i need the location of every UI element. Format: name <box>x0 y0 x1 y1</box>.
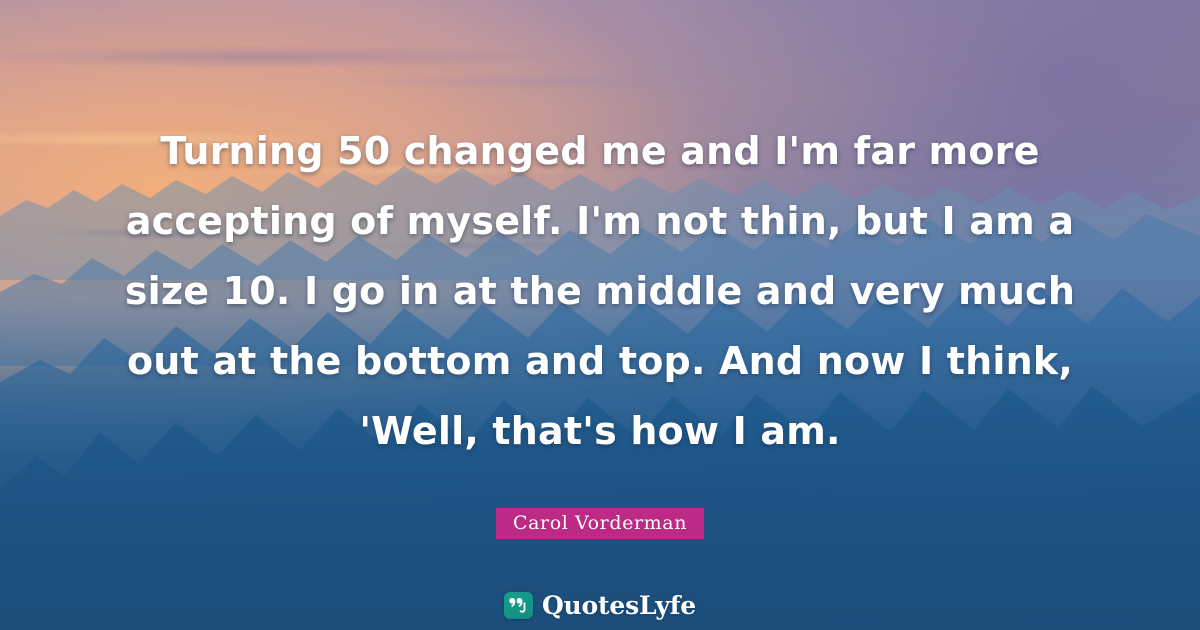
brand-logo[interactable]: QuotesLyfe <box>504 591 696 620</box>
quote-line: 'Well, that's how I am. <box>70 396 1130 466</box>
quote-text: Turning 50 changed me and I'm far more a… <box>70 116 1130 466</box>
quote-line: size 10. I go in at the middle and very … <box>70 256 1130 326</box>
brand-name: QuotesLyfe <box>542 591 696 620</box>
quote-line: Turning 50 changed me and I'm far more <box>70 116 1130 186</box>
card-content: Turning 50 changed me and I'm far more a… <box>0 0 1200 630</box>
quotation-mark-icon <box>504 592 533 619</box>
quote-line: out at the bottom and top. And now I thi… <box>70 326 1130 396</box>
attribution-wrap: Carol Vorderman <box>496 508 704 539</box>
quote-line: accepting of myself. I'm not thin, but I… <box>70 186 1130 256</box>
author-badge[interactable]: Carol Vorderman <box>496 508 704 539</box>
quote-card: Turning 50 changed me and I'm far more a… <box>0 0 1200 630</box>
